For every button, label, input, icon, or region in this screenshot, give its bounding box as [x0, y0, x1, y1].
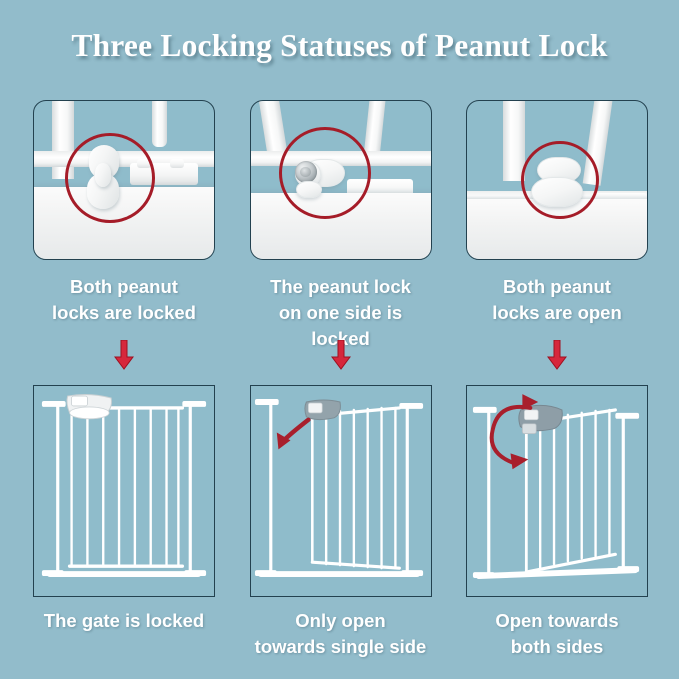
caption-line-1: Open towards: [466, 608, 648, 634]
photo-scene: [467, 101, 647, 259]
caption-line-2: locks are open: [466, 300, 648, 326]
pressure-bolt-group: [473, 407, 639, 578]
gate-latch-assembly: [304, 400, 340, 420]
swing-arrow-single-icon: [269, 420, 308, 453]
caption-line-1: The peanut lock: [250, 274, 432, 300]
lock-state-column-one-side-locked: [250, 100, 432, 260]
caption-line-2: towards single side: [250, 634, 432, 660]
caption-line-1: The gate is locked: [33, 608, 215, 634]
arrow-slot-1: [33, 340, 215, 370]
gate-illustration-locked: [34, 386, 214, 596]
gate-state-column-both-sides: [466, 385, 648, 597]
lock-state-column-both-locked: [33, 100, 215, 260]
gate-illustration-row: [33, 385, 648, 597]
lock-photo-row: [33, 100, 648, 260]
highlight-circle-icon: [521, 141, 599, 219]
gate-panel-both-sides: [466, 385, 648, 597]
caption-gate-single-side: Only open towards single side: [250, 608, 432, 660]
gate-state-column-single-side: [250, 385, 432, 597]
photo-panel-both-open: [466, 100, 648, 260]
arrow-down-icon: [330, 340, 352, 370]
gate-panel-single-side: [250, 385, 432, 597]
highlight-circle-icon: [279, 127, 371, 219]
gate-illustration-single-side: [251, 386, 431, 596]
arrow-slot-2: [250, 340, 432, 370]
gate-latch-assembly: [519, 405, 562, 433]
arrow-down-icon: [113, 340, 135, 370]
gate-panel-locked: [33, 385, 215, 597]
lock-state-column-both-open: [466, 100, 648, 260]
page-title: Three Locking Statuses of Peanut Lock: [0, 28, 679, 64]
arrow-row: [33, 340, 648, 370]
gate-frame-post-right: [152, 100, 167, 147]
photo-panel-one-side-locked: [250, 100, 432, 260]
photo-scene: [34, 101, 214, 259]
photo-scene: [251, 101, 431, 259]
caption-line-2: locks are locked: [33, 300, 215, 326]
caption-line-2: both sides: [466, 634, 648, 660]
gate-state-column-locked: [33, 385, 215, 597]
pressure-bolt-group: [42, 401, 206, 576]
caption-gate-both-sides: Open towards both sides: [466, 608, 648, 660]
gate-illustration-both-sides: [467, 386, 647, 596]
gate-caption-row: The gate is locked Only open towards sin…: [33, 608, 648, 660]
highlight-circle-icon: [65, 133, 155, 223]
gate-frame-post-right: [363, 100, 385, 156]
caption-line-1: Only open: [250, 608, 432, 634]
caption-gate-locked: The gate is locked: [33, 608, 215, 660]
caption-line-1: Both peanut: [466, 274, 648, 300]
arrow-down-icon: [546, 340, 568, 370]
photo-panel-both-locked: [33, 100, 215, 260]
mounting-plate-nub-b: [170, 159, 184, 168]
gate-latch-assembly: [67, 394, 112, 418]
arrow-slot-3: [466, 340, 648, 370]
caption-line-1: Both peanut: [33, 274, 215, 300]
